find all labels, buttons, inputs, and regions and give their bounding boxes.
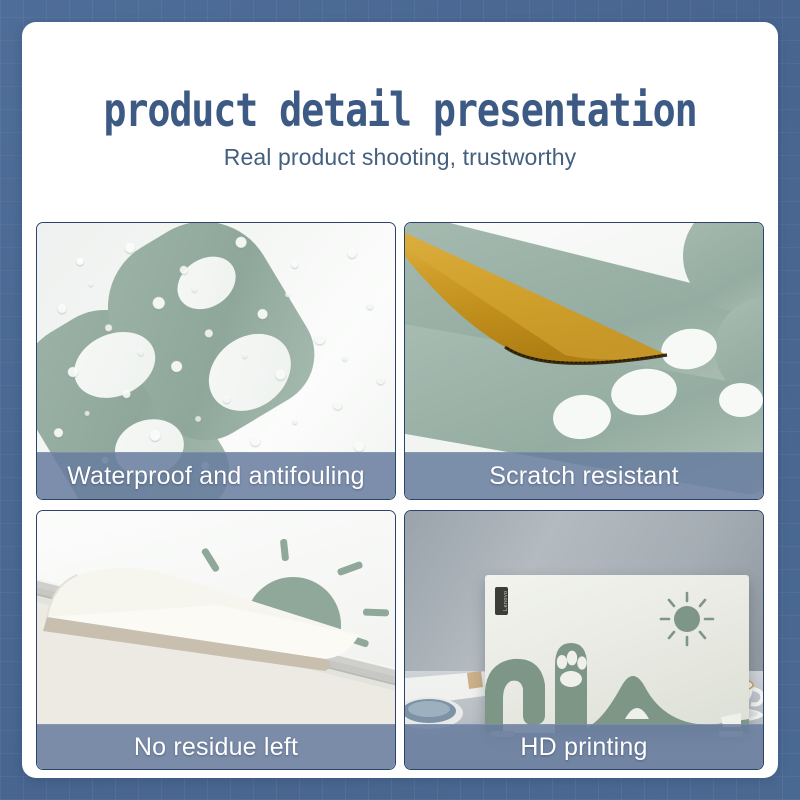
tile-caption: Waterproof and antifouling — [37, 452, 395, 499]
tile-caption: No residue left — [37, 724, 395, 769]
cat-body-graphic — [581, 661, 749, 733]
tile-caption: Scratch resistant — [405, 452, 763, 499]
feature-tile-hd-printing[interactable]: Lenovo — [404, 510, 764, 770]
tile-caption: HD printing — [405, 724, 763, 769]
sun-graphic — [653, 587, 721, 651]
feature-tile-scratch[interactable]: Scratch resistant — [404, 222, 764, 500]
knife-blade — [405, 227, 675, 377]
page-title: product detail presentation — [37, 84, 763, 137]
feature-tile-waterproof[interactable]: Waterproof and antifouling — [36, 222, 396, 500]
header: product detail presentation Real product… — [22, 22, 778, 200]
page-frame: product detail presentation Real product… — [0, 0, 800, 800]
laptop-brand-text: Lenovo — [493, 589, 519, 613]
page-subtitle: Real product shooting, trustworthy — [22, 144, 778, 171]
feature-tile-residue[interactable]: No residue left — [36, 510, 396, 770]
feature-grid: Waterproof and antifouling — [36, 222, 764, 770]
toe-bean — [719, 383, 763, 417]
peeled-skin — [37, 561, 367, 681]
cat-paw-graphic — [547, 639, 595, 733]
laptop-lid: Lenovo — [485, 575, 749, 733]
content-card: product detail presentation Real product… — [22, 22, 778, 778]
